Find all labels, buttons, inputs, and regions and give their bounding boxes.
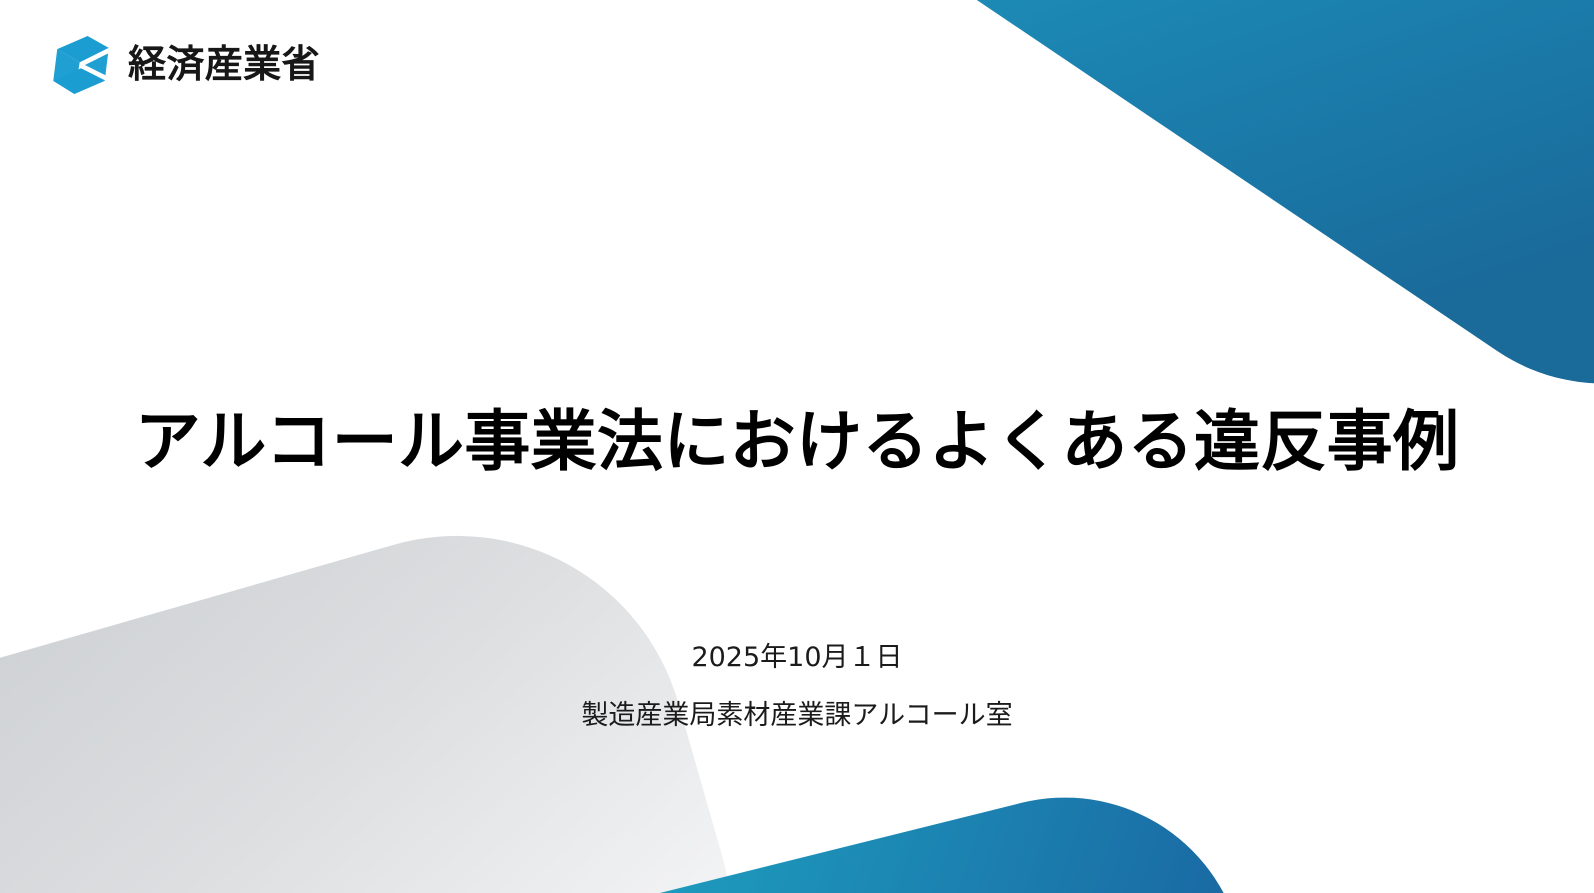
meti-logo-icon: [48, 32, 114, 98]
ministry-name: 経済産業省: [128, 46, 320, 84]
bottom-center-gradient-shape: [323, 759, 1298, 893]
title-area: アルコール事業法におけるよくある違反事例: [0, 404, 1594, 480]
meta-area: 2025年10月１日 製造産業局素材産業課アルコール室: [0, 642, 1594, 733]
top-right-gradient-shape: [759, 0, 1594, 457]
title-slide: 経済産業省 アルコール事業法におけるよくある違反事例 2025年10月１日 製造…: [0, 0, 1594, 893]
page-title: アルコール事業法におけるよくある違反事例: [0, 404, 1594, 480]
ministry-logo-block: 経済産業省: [48, 32, 320, 98]
issuing-office: 製造産業局素材産業課アルコール室: [0, 700, 1594, 732]
presentation-date: 2025年10月１日: [0, 642, 1594, 674]
